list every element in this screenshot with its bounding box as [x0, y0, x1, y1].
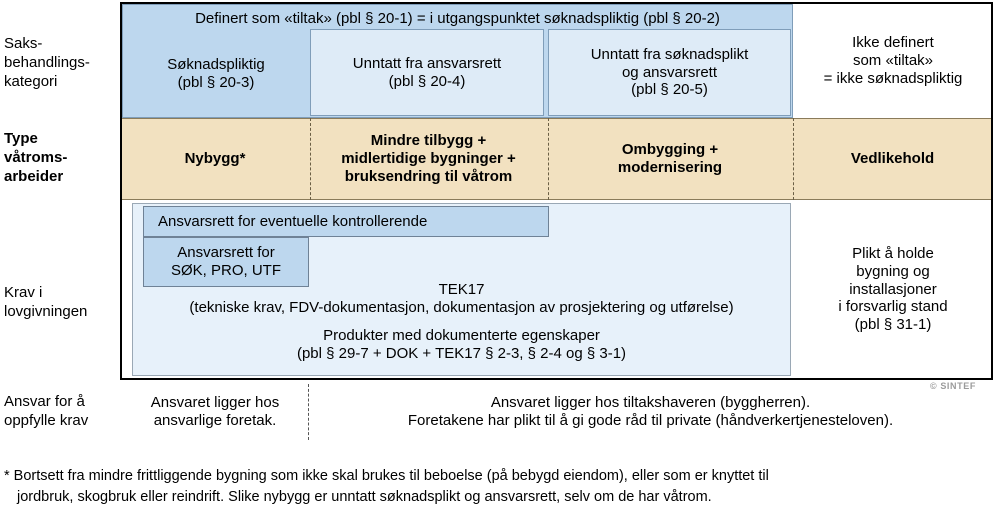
cell-line: Unntatt fra ansvarsrett: [353, 55, 501, 73]
text-produkter-dokumenterte-egenskaper: Produkter med dokumenterte egenskaper (p…: [134, 322, 789, 368]
cell-unntatt-fra-soknadsplikt-og-ansvarsrett: Unntatt fra søknadsplikt og ansvarsrett …: [548, 29, 791, 116]
text-tek17: TEK17 (tekniske krav, FDV-dokumentasjon,…: [134, 276, 789, 322]
cell-line: Foretakene har plikt til å gi gode råd t…: [408, 412, 893, 430]
cell-line: Ansvaret ligger hos tiltakshaveren (bygg…: [491, 394, 810, 412]
cell-line: Ansvarsrett for: [177, 244, 275, 262]
cell-line: (pbl § 20-4): [389, 73, 466, 91]
cell-line: bruksendring til våtrom: [345, 168, 513, 186]
row-label-krav-i-lovgivningen: Krav i lovgivningen: [4, 283, 116, 321]
cell-line: Ikke definert: [852, 34, 934, 52]
row-label-line: Krav i: [4, 283, 116, 302]
cell-unntatt-fra-ansvarsrett: Unntatt fra ansvarsrett (pbl § 20-4): [310, 29, 544, 116]
cell-line: som «tiltak»: [853, 52, 933, 70]
cell-line: og ansvarsrett: [622, 64, 717, 82]
row-label-line: oppfylle krav: [4, 411, 116, 430]
cell-line: ansvarlige foretak.: [154, 412, 277, 430]
cell-line: modernisering: [618, 159, 722, 177]
cell-line: Unntatt fra søknadsplikt: [591, 46, 749, 64]
row-label-ansvar-for-a-oppfylle-krav: Ansvar for å oppfylle krav: [4, 392, 116, 430]
row-label-saksbehandlingskategori: Saks- behandlings- kategori: [4, 34, 116, 92]
cell-line: Vedlikehold: [851, 150, 934, 168]
row4-dashed-divider: [308, 384, 309, 440]
cell-line: Søknadspliktig: [167, 56, 265, 74]
cell-line: Mindre tilbygg +: [371, 132, 486, 150]
row-label-line: arbeider: [4, 167, 116, 186]
cell-ombygging-modernisering: Ombygging + modernisering: [548, 118, 791, 200]
cell-line: = ikke søknadspliktig: [824, 70, 963, 88]
cell-line: i forsvarlig stand: [838, 298, 947, 316]
cell-mindre-tilbygg: Mindre tilbygg + midlertidige bygninger …: [310, 118, 546, 200]
cell-line: Ansvaret ligger hos: [151, 394, 279, 412]
row-label-type-vatromsarbeider: Type våtroms- arbeider: [4, 129, 116, 187]
cell-line: (pbl § 20-3): [178, 74, 255, 92]
cell-line: (pbl § 20-5): [631, 81, 708, 99]
cell-line: Produkter med dokumenterte egenskaper: [323, 327, 600, 345]
cell-plikt-a-holde-bygning: Plikt å holde bygning og installasjoner …: [795, 203, 991, 376]
cell-line: Nybygg*: [185, 150, 246, 168]
cell-ansvar-tiltakshaver: Ansvaret ligger hos tiltakshaveren (bygg…: [310, 386, 991, 438]
cell-line: (pbl § 29-7 + DOK + TEK17 § 2-3, § 2-4 o…: [297, 345, 626, 363]
sintef-watermark: © SINTEF: [930, 381, 976, 391]
cell-line: Plikt å holde: [852, 245, 934, 263]
row-label-line: behandlings-: [4, 53, 116, 72]
row-label-line: våtroms-: [4, 148, 116, 167]
footnote-line: * Bortsett fra mindre frittliggende bygn…: [4, 466, 984, 487]
cell-line: bygning og: [856, 263, 929, 281]
cell-vedlikehold: Vedlikehold: [793, 118, 991, 200]
row-label-line: Saks-: [4, 34, 116, 53]
diagram-canvas: Saks- behandlings- kategori Type våtroms…: [0, 0, 995, 509]
row-label-line: kategori: [4, 72, 116, 91]
cell-nybygg: Nybygg*: [122, 118, 308, 200]
cell-line: (pbl § 31-1): [855, 316, 932, 334]
cell-line: midlertidige bygninger +: [341, 150, 516, 168]
cell-ansvar-ansvarlige-foretak: Ansvaret ligger hos ansvarlige foretak.: [122, 388, 308, 436]
cell-line: TEK17: [439, 281, 485, 299]
row-label-line: Ansvar for å: [4, 392, 116, 411]
row-label-line: lovgivningen: [4, 302, 116, 321]
footnote: * Bortsett fra mindre frittliggende bygn…: [4, 466, 984, 507]
cell-ikke-definert-som-tiltak: Ikke definert som «tiltak» = ikke søknad…: [795, 4, 991, 118]
footnote-line: jordbruk, skogbruk eller reindrift. Slik…: [4, 487, 984, 508]
box-ansvarsrett-kontrollerende: Ansvarsrett for eventuelle kontrollerend…: [143, 206, 549, 237]
row-label-line: Type: [4, 129, 116, 148]
cell-line: (tekniske krav, FDV-dokumentasjon, dokum…: [189, 299, 733, 317]
cell-soknadspliktig: Søknadspliktig (pbl § 20-3): [124, 32, 308, 116]
cell-line: installasjoner: [849, 281, 937, 299]
cell-line: Ombygging +: [622, 141, 718, 159]
